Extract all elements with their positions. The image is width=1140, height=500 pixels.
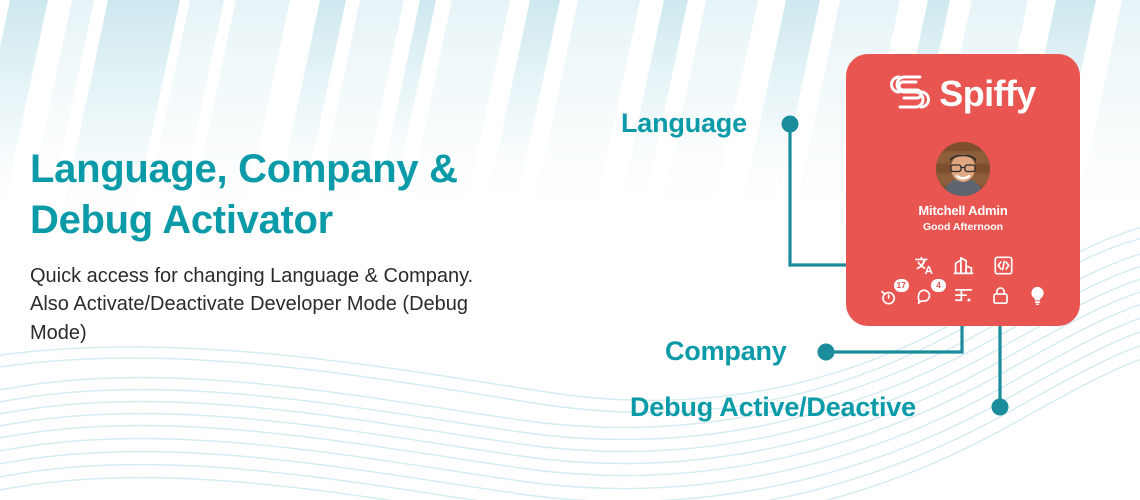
avatar (936, 142, 990, 196)
headline-line-2: Debug Activator (30, 195, 550, 246)
user-avatar-photo (936, 142, 990, 196)
promo-banner: Language, Company & Debug Activator Quic… (0, 0, 1140, 500)
messages-badge: 4 (931, 279, 946, 292)
connector-dot-debug (992, 399, 1009, 416)
user-profile-card: Spiffy (846, 54, 1080, 326)
translate-icon[interactable] (912, 254, 934, 276)
brand-name: Spiffy (939, 76, 1035, 112)
callout-label-company: Company (665, 336, 787, 367)
company-building-icon[interactable] (952, 254, 974, 276)
speech-bubble-icon[interactable]: 4 (915, 284, 937, 306)
quick-action-icons (846, 254, 1080, 276)
greeting-text: Good Afternoon (846, 221, 1080, 233)
spiffy-paperclip-logo-icon (890, 70, 930, 117)
status-icons: 17 4 (846, 284, 1080, 306)
page-title: Language, Company & Debug Activator (30, 144, 550, 246)
connector-dot-language (782, 116, 799, 133)
padlock-icon[interactable] (989, 284, 1011, 306)
lightbulb-icon[interactable] (1026, 284, 1048, 306)
brand-row: Spiffy (846, 70, 1080, 117)
callout-label-debug: Debug Active/Deactive (630, 392, 916, 423)
filter-settings-icon[interactable] (952, 284, 974, 306)
user-name: Mitchell Admin (846, 203, 1080, 218)
activity-badge: 17 (894, 279, 909, 292)
callout-label-language: Language (621, 108, 747, 139)
headline-line-1: Language, Company & (30, 144, 550, 195)
connector-dot-company (818, 344, 835, 361)
page-description: Quick access for changing Language & Com… (30, 262, 490, 347)
clock-timer-icon[interactable]: 17 (878, 284, 900, 306)
code-debug-icon[interactable] (992, 254, 1014, 276)
